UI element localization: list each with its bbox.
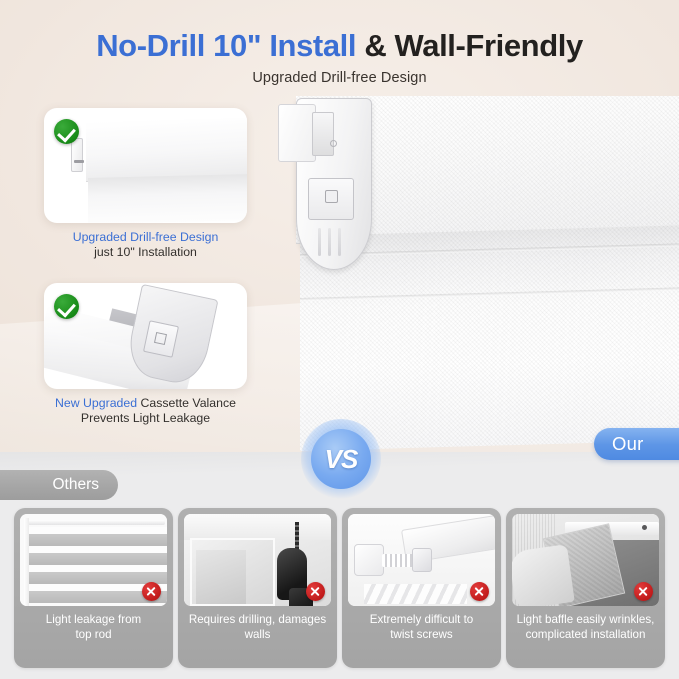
fabric-fold [364, 584, 467, 604]
vs-label: VS [311, 429, 371, 489]
hand-shape [512, 544, 575, 606]
blind-side-bracket [71, 138, 83, 172]
baffle-screw-dot [642, 525, 647, 530]
comparison-card-1-line2: top rod [24, 628, 163, 643]
comparison-card-1-caption: Light leakage from top rod [20, 606, 167, 643]
comparison-card-1-line1: Light leakage from [24, 613, 163, 628]
comparison-card-4-photo [512, 514, 659, 606]
screw-thread [382, 554, 416, 567]
page-title: No-Drill 10" Install & Wall-Friendly [0, 28, 679, 64]
feature-card-2-photo [44, 283, 247, 389]
comparison-card-2-line1: Requires drilling, damages [188, 613, 327, 628]
feature-card-1-caption: Upgraded Drill-free Design just 10" Inst… [44, 230, 247, 260]
comparison-card-2-caption: Requires drilling, damages walls [184, 606, 331, 643]
bracket-end-cap [354, 544, 384, 576]
feature-card-2-line2: Prevents Light Leakage [44, 411, 247, 426]
cassette-end-cap [278, 104, 316, 162]
blind-headrail [86, 118, 247, 182]
page-subtitle: Upgraded Drill-free Design [0, 70, 679, 86]
comparison-card-4-caption: Light baffle easily wrinkles, complicate… [512, 606, 659, 643]
comparison-card-2-line2: walls [188, 628, 327, 643]
cassette-rib [328, 228, 331, 256]
vs-badge: VS [311, 429, 371, 489]
blind-band [28, 534, 167, 546]
comparison-card-4-line2: complicated installation [516, 628, 655, 643]
cassette-slot [312, 112, 334, 156]
comparison-card-4-line1: Light baffle easily wrinkles, [516, 613, 655, 628]
feature-card-2-line1: New Upgraded Cassette Valance [44, 396, 247, 411]
blind-fabric [88, 174, 247, 223]
our-label-text: Our [612, 433, 643, 455]
feature-card-2-caption: New Upgraded Cassette Valance Prevents L… [44, 396, 247, 426]
cassette-rib [338, 228, 341, 256]
feature-card-1-photo [44, 108, 247, 223]
light-gap [28, 565, 167, 572]
comparison-card-1-photo [20, 514, 167, 606]
blind-side-rail [24, 518, 29, 606]
cassette-pivot-icon [330, 140, 337, 147]
light-gap [28, 546, 167, 553]
x-icon [306, 582, 325, 601]
comparison-card-3-photo [348, 514, 495, 606]
cassette-screw-icon [325, 190, 338, 203]
comparison-card: Extremely difficult to twist screws [342, 508, 501, 668]
x-icon [470, 582, 489, 601]
feature-card-1-line1: Upgraded Drill-free Design [44, 230, 247, 245]
comparison-card-3-caption: Extremely difficult to twist screws [348, 606, 495, 643]
feature-card-1-line2: just 10" Installation [44, 245, 247, 260]
feature-card-drill-free: Upgraded Drill-free Design just 10" Inst… [44, 108, 247, 260]
hero-headrail-cassette [278, 96, 380, 278]
screw-knob [412, 548, 432, 572]
comparison-row: Light leakage from top rod Requires dril… [0, 508, 679, 668]
our-label-badge: Our [594, 428, 679, 460]
window-inner [196, 550, 246, 604]
wall-surface [184, 514, 331, 540]
hero-product-image [278, 96, 679, 451]
comparison-card-2-photo [184, 514, 331, 606]
cassette-rib [318, 228, 321, 256]
feature-card-2-line1-blue: New Upgraded [55, 396, 137, 410]
feature-card-cassette-valance: New Upgraded Cassette Valance Prevents L… [44, 283, 247, 426]
check-icon [54, 119, 79, 144]
others-label-badge: Others [0, 470, 118, 500]
valance-notch-icon [154, 332, 167, 345]
blind-band [28, 553, 167, 565]
x-icon [142, 582, 161, 601]
light-gap [28, 527, 167, 534]
x-icon [634, 582, 653, 601]
headline-dark-part: & Wall-Friendly [356, 28, 583, 63]
comparison-card-3-line2: twist screws [352, 628, 491, 643]
blind-top-rod [28, 520, 165, 525]
comparison-card-3-line1: Extremely difficult to [352, 613, 491, 628]
comparison-card: Light baffle easily wrinkles, complicate… [506, 508, 665, 668]
comparison-card: Light leakage from top rod [14, 508, 173, 668]
infographic-page: No-Drill 10" Install & Wall-Friendly Upg… [0, 0, 679, 679]
headline-blue-part: No-Drill 10" Install [96, 28, 356, 63]
vs-circle: VS [311, 429, 371, 489]
feature-card-2-line1-dark: Cassette Valance [137, 396, 236, 410]
check-icon [54, 294, 79, 319]
others-label-text: Others [52, 476, 99, 494]
blind-hook [74, 160, 84, 163]
comparison-card: Requires drilling, damages walls [178, 508, 337, 668]
